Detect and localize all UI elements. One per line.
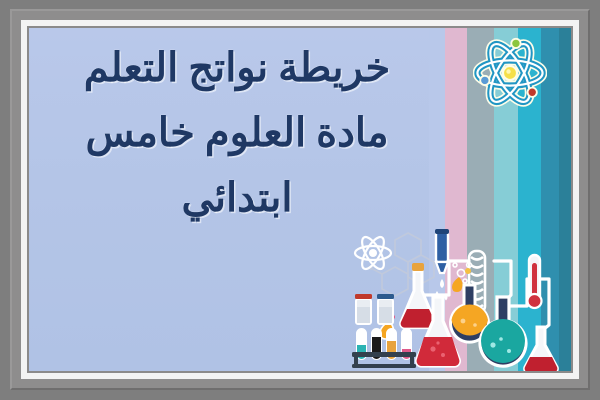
atom-icon xyxy=(473,30,547,116)
thermometer-icon xyxy=(528,255,542,308)
title-line-1: خريطة نواتج التعلم xyxy=(37,36,437,101)
electron-blue xyxy=(479,75,490,86)
electron-green xyxy=(510,38,521,49)
poster-title: خريطة نواتج التعلم مادة العلوم خامس ابتد… xyxy=(37,36,437,230)
erlenmeyer-flask-red-right xyxy=(525,327,558,371)
specimen-jar-right xyxy=(377,294,394,324)
lab-equipment-illustration xyxy=(351,221,571,371)
hexagon-molecule-icon xyxy=(369,233,434,297)
poster-root: خريطة نواتج التعلم مادة العلوم خامس ابتد… xyxy=(0,0,600,400)
poster-canvas: خريطة نواتج التعلم مادة العلوم خامس ابتد… xyxy=(29,28,571,371)
title-line-3: ابتدائي xyxy=(37,166,437,231)
pipette-icon xyxy=(435,229,449,273)
title-line-2: مادة العلوم خامس xyxy=(37,101,437,166)
specimen-jar-left xyxy=(355,294,372,324)
electron-red xyxy=(527,87,538,98)
atom-outline-icon xyxy=(355,234,391,272)
